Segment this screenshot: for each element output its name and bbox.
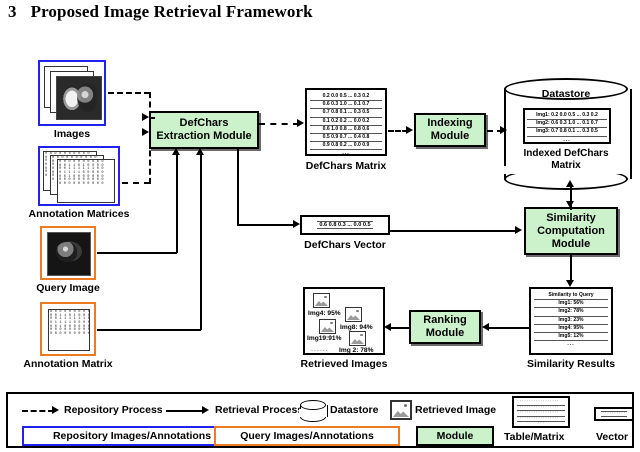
legend-vector-row: ··········	[601, 411, 627, 418]
page-title: 3Proposed Image Retrieval Framework	[8, 2, 313, 22]
legend-module-label: Module	[437, 430, 474, 442]
similarity-line2: Computation	[537, 225, 605, 238]
connector-vector-to-similarity	[390, 230, 516, 232]
legend-module-pill: Module	[416, 426, 494, 446]
defchars-matrix-ellipsis: ...	[310, 150, 382, 157]
legend-table-matrix-icon: ·················· ·················· ··…	[512, 396, 570, 428]
matrix-art-row: 0 0 0 0 0 0 0 0 0 0	[59, 183, 113, 187]
repository-annotation-matrices-caption: Annotation Matrices	[8, 208, 150, 220]
retrieved-image-thumb	[345, 307, 362, 322]
defchars-extraction-line2: Extraction Module	[156, 130, 251, 143]
legend-vector-icon: ··········	[594, 407, 634, 421]
defchars-matrix-row: 0.1 0.2 0.2 ... 0.0 0.2	[310, 118, 382, 126]
mountain-icon	[351, 336, 364, 344]
defchars-matrix-row: 0.9 0.8 0.2 ... 0.0 0.9	[310, 142, 382, 150]
similarity-results-row: Img2: 78%	[534, 308, 608, 316]
legend-retrieved-image-icon	[390, 400, 412, 420]
sun-icon	[360, 334, 363, 337]
arrowhead-to-similarity	[566, 201, 574, 208]
retrieved-image-label: Img 2: 78%	[339, 347, 373, 354]
arrowhead-defchars-matrix	[297, 119, 304, 127]
query-annotation-matrix-box: 0 0 0 0 0 0 0 0 0 00 0 1 1 0 1 0 0 0 00 …	[40, 302, 96, 356]
annotation-sheet-front: 0 0 0 0 0 0 0 0 0 00 0 1 1 0 1 0 0 0 00 …	[57, 159, 115, 203]
similarity-line3: Module	[537, 238, 605, 251]
defchars-matrix-row: 0.6 1.0 0.8 ... 0.8 0.6	[310, 126, 382, 134]
mountain-icon	[321, 324, 334, 332]
arrowhead-annotations-in	[142, 128, 149, 136]
defchars-extraction-line1: DefChars	[156, 117, 251, 130]
connector-query-image-v	[176, 154, 178, 253]
connector-images-drop	[149, 92, 151, 117]
mountain-icon	[393, 408, 409, 417]
matrix-art-row: 0 0 0 0 0 0 0 0 0 0	[50, 333, 88, 337]
sun-icon	[330, 322, 333, 325]
legend-repository-process-line	[22, 410, 54, 412]
repository-images-caption: Images	[28, 128, 116, 140]
indexed-defchars-row: Img3: 0.7 0.8 0.1 ... 0.3 0.5	[527, 128, 607, 136]
defchars-matrix-caption: DefChars Matrix	[292, 160, 400, 172]
similarity-results-row: Img1: 56%	[534, 300, 608, 308]
defchars-vector-value: 0.6 0.8 0.3 ... 0.0 0.5	[317, 221, 372, 229]
similarity-results-header: Similarity to Query	[534, 292, 608, 300]
section-title-text: Proposed Image Retrieval Framework	[31, 2, 313, 21]
image-stack	[44, 66, 104, 124]
legend-query-images-pill-2: Query Images/Annotations	[214, 426, 400, 446]
defchars-vector-caption: DefChars Vector	[290, 239, 400, 251]
arrowhead-datastore-in	[500, 126, 507, 134]
connector-extraction-to-matrix	[259, 123, 299, 125]
defchars-vector-box: 0.6 0.8 0.3 ... 0.0 0.5	[300, 215, 390, 235]
legend-retrieval-process-label: Retrieval Process	[215, 404, 303, 416]
similarity-module-label: Similarity Computation Module	[537, 212, 605, 251]
legend-retrieval-process-line	[166, 410, 204, 412]
connector-extraction-to-vector	[237, 224, 295, 226]
retrieved-image-thumb	[319, 319, 336, 334]
indexing-module[interactable]: Indexing Module	[414, 113, 486, 147]
arrowhead-similarity-in	[515, 226, 522, 234]
legend-datastore-label: Datastore	[330, 404, 378, 416]
similarity-results-table: Similarity to Query Img1: 56% Img2: 78% …	[529, 287, 613, 355]
connector-similarity-to-results	[570, 255, 572, 282]
indexing-module-label: Indexing Module	[427, 117, 472, 143]
indexed-defchars-row: Img2: 0.6 0.3 1.0 ... 0.1 0.7	[527, 120, 607, 128]
indexed-defchars-caption-line1: Indexed DefChars	[504, 148, 628, 160]
arrowhead-retrieved-in	[384, 323, 391, 331]
arrowhead-indexing-in	[406, 126, 413, 134]
retrieved-image-label: Img8: 94%	[340, 324, 373, 331]
ranking-line2: Module	[423, 327, 466, 340]
section-number: 3	[8, 2, 17, 21]
ranking-module[interactable]: Ranking Module	[409, 310, 481, 344]
similarity-results-ellipsis: ...	[534, 341, 608, 348]
query-image-box	[40, 226, 96, 280]
query-image-thumbnail	[47, 232, 91, 276]
sun-icon	[356, 310, 359, 313]
connector-annotations-to-extraction	[122, 182, 150, 184]
framework-diagram: Images 0 0 0 0 0 0 0 0 0 00 0 1 1 0 1 0 …	[0, 30, 640, 390]
datastore-cylinder: Datastore Img1: 0.2 0.0 0.5 ... 0.3 0.2 …	[504, 78, 628, 190]
legend-cylinder-bottom	[300, 412, 326, 422]
similarity-results-caption: Similarity Results	[512, 358, 630, 370]
indexed-defchars-row: Img1: 0.2 0.0 0.5 ... 0.3 0.2	[527, 112, 607, 120]
repository-images-box	[38, 60, 106, 126]
indexed-defchars-caption-line2: Matrix	[504, 160, 628, 172]
connector-extraction-down	[237, 149, 239, 226]
query-annotation-matrix-caption: Annotation Matrix	[8, 358, 128, 370]
defchars-matrix-row: 0.2 0.0 0.5 ... 0.3 0.2	[310, 93, 382, 101]
connector-images-to-extraction	[108, 92, 150, 94]
arrowhead-to-datastore	[566, 180, 574, 187]
legend: Repository Process Retrieval Process Dat…	[6, 392, 634, 448]
defchars-matrix-table: 0.2 0.0 0.5 ... 0.3 0.2 0.6 0.3 1.0 ... …	[305, 88, 387, 156]
defchars-extraction-module[interactable]: DefChars Extraction Module	[149, 111, 259, 149]
similarity-line1: Similarity	[537, 212, 605, 225]
arrowhead-query-image	[172, 148, 180, 155]
legend-query-images-label: Query Images/Annotations	[240, 430, 374, 442]
defchars-matrix-row: 0.7 0.8 0.1 ... 0.3 0.5	[310, 109, 382, 117]
defchars-matrix-row: 0.6 0.3 1.0 ... 0.1 0.7	[310, 101, 382, 109]
connector-results-to-ranking	[489, 327, 530, 329]
legend-table-row: ···	[517, 422, 565, 427]
connector-matrix-to-indexing	[388, 130, 408, 132]
legend-repository-process-label: Repository Process	[64, 404, 163, 416]
connector-annotations-rise	[149, 132, 151, 184]
legend-datastore-icon	[300, 400, 326, 422]
legend-repository-images-label: Repository Images/Annotations	[53, 430, 211, 442]
query-image-caption: Query Image	[26, 282, 110, 294]
legend-table-matrix-label: Table/Matrix	[504, 431, 565, 443]
repository-annotation-matrices-box: 0 0 0 0 0 0 0 0 0 00 0 1 1 0 1 0 0 0 00 …	[38, 146, 120, 206]
legend-vector-label: Vector	[596, 431, 628, 443]
ranking-module-label: Ranking Module	[423, 314, 466, 340]
retrieved-images-ellipsis: ......	[311, 346, 329, 353]
similarity-computation-module[interactable]: Similarity Computation Module	[524, 207, 618, 255]
datastore-title: Datastore	[504, 88, 628, 100]
sun-icon	[324, 296, 327, 299]
indexed-defchars-ellipsis: ...	[527, 137, 607, 144]
arrowhead-results-in	[566, 280, 574, 287]
sun-icon	[404, 404, 408, 408]
indexed-defchars-table: Img1: 0.2 0.0 0.5 ... 0.3 0.2 Img2: 0.6 …	[523, 108, 611, 144]
retrieved-image-thumb	[313, 293, 330, 308]
arrowhead-query-annotation	[196, 148, 204, 155]
legend-repository-arrowhead	[52, 406, 59, 414]
legend-cylinder-top	[300, 400, 326, 410]
indexing-line2: Module	[427, 130, 472, 143]
retrieved-image-thumb	[349, 331, 366, 346]
arrowhead-images-in	[142, 113, 149, 121]
query-annotation-sheet: 0 0 0 0 0 0 0 0 0 00 0 1 1 0 1 0 0 0 00 …	[48, 309, 90, 351]
annotation-matrix-stack: 0 0 0 0 0 0 0 0 0 00 0 1 1 0 1 0 0 0 00 …	[43, 151, 119, 205]
connector-images-in	[149, 117, 155, 119]
similarity-results-row: Img4: 95%	[534, 325, 608, 333]
similarity-results-row: Img3: 23%	[534, 317, 608, 325]
mountain-icon	[347, 312, 360, 320]
connector-query-annotation-h	[97, 329, 201, 331]
defchars-extraction-module-label: DefChars Extraction Module	[156, 117, 251, 143]
legend-retrieval-arrowhead	[202, 406, 209, 414]
ct-image-thumbnail	[56, 76, 102, 120]
arrowhead-defchars-vector	[293, 220, 300, 228]
connector-ranking-to-retrieved	[391, 327, 411, 329]
defchars-matrix-row: 0.5 0.9 0.7 ... 0.4 0.8	[310, 134, 382, 142]
retrieved-images-caption: Retrieved Images	[286, 358, 402, 370]
legend-repository-images-pill: Repository Images/Annotations	[22, 426, 242, 446]
connector-query-annotation-v	[200, 154, 202, 330]
mountain-icon	[315, 298, 328, 306]
retrieved-images-box: Img4: 95% Img8: 94% Img19:91% Img 2: 78%…	[303, 287, 385, 355]
connector-query-image-h	[97, 252, 177, 254]
retrieved-image-label: Img19:91%	[307, 335, 341, 342]
legend-retrieved-image-label: Retrieved Image	[415, 404, 496, 416]
arrowhead-ranking-in	[482, 323, 489, 331]
indexing-line1: Indexing	[427, 117, 472, 130]
ranking-line1: Ranking	[423, 314, 466, 327]
similarity-results-row: Img5: 12%	[534, 333, 608, 341]
retrieved-image-label: Img4: 95%	[308, 310, 341, 317]
indexed-defchars-caption: Indexed DefChars Matrix	[504, 148, 628, 172]
